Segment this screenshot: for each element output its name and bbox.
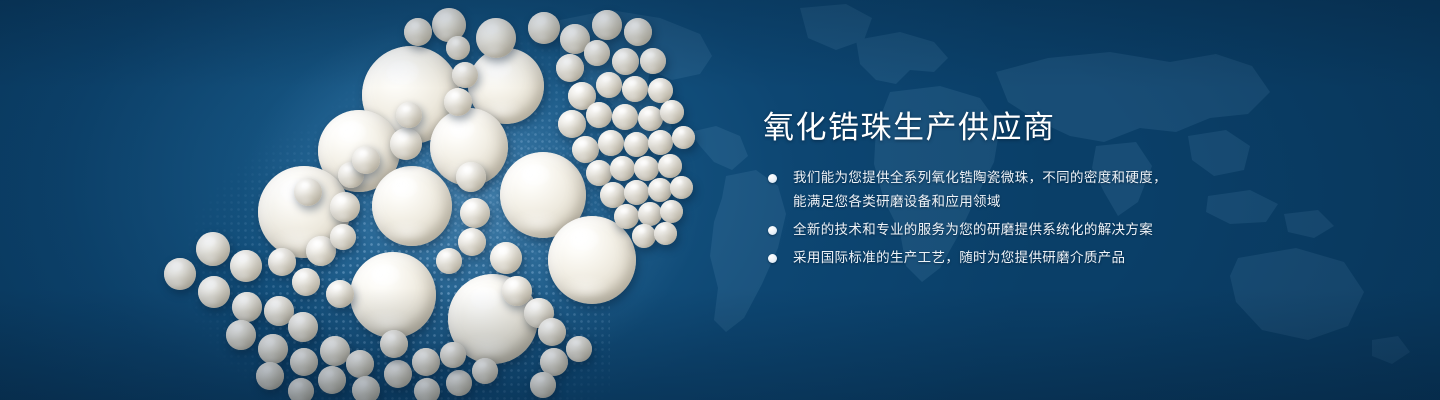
vignette-overlay	[0, 0, 1440, 400]
hero-banner: 氧化锆珠生产供应商 我们能为您提供全系列氧化锆陶瓷微珠，不同的密度和硬度， 能满…	[0, 0, 1440, 400]
